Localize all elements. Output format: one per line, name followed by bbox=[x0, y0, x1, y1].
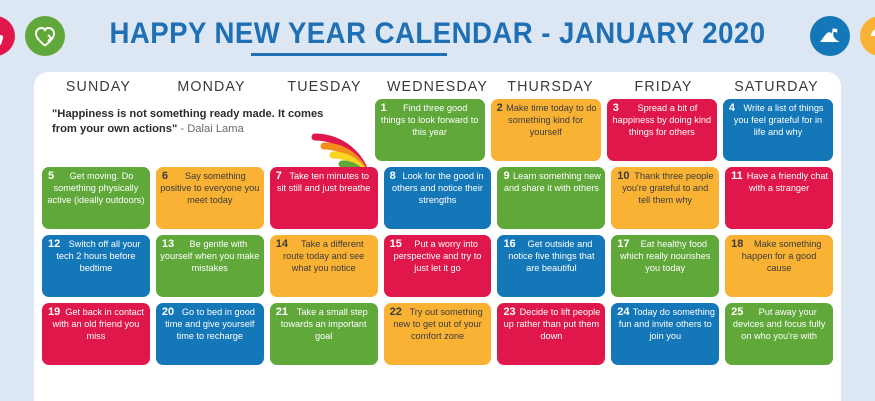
day-cell-11[interactable]: 11 Have a friendly chat with a stranger bbox=[725, 167, 833, 229]
day-cell-5[interactable]: 5 Get moving. Do something physically ac… bbox=[42, 167, 150, 229]
dow-sunday: SUNDAY bbox=[45, 78, 152, 95]
day-number: 23 bbox=[503, 306, 515, 318]
day-cell-16[interactable]: 16 Get outside and notice five things th… bbox=[497, 235, 605, 297]
day-text: Have a friendly chat with a stranger bbox=[729, 170, 829, 194]
day-number: 5 bbox=[48, 170, 54, 182]
calendar-week-3: 12 Switch off all your tech 2 hours befo… bbox=[42, 235, 833, 297]
title-block: HAPPY NEW YEAR CALENDAR - JANUARY 2020 bbox=[81, 17, 794, 56]
day-text: Go to bed in good time and give yourself… bbox=[160, 306, 260, 342]
calendar-card: SUNDAY MONDAY TUESDAY WEDNESDAY THURSDAY… bbox=[34, 72, 841, 401]
day-cell-2[interactable]: 2 Make time today to do something kind f… bbox=[491, 99, 601, 161]
day-text: Get moving. Do something physically acti… bbox=[46, 170, 146, 206]
day-text: Take a small step towards an important g… bbox=[274, 306, 374, 342]
day-cell-24[interactable]: 24 Today do something fun and invite oth… bbox=[611, 303, 719, 365]
day-number: 16 bbox=[503, 238, 515, 250]
day-text: Make time today to do something kind for… bbox=[495, 102, 597, 138]
day-text: Learn something new and share it with ot… bbox=[501, 170, 601, 194]
day-number: 24 bbox=[617, 306, 629, 318]
day-number: 12 bbox=[48, 238, 60, 250]
day-text: Today do something fun and invite others… bbox=[615, 306, 715, 342]
day-number: 22 bbox=[390, 306, 402, 318]
day-number: 21 bbox=[276, 306, 288, 318]
day-number: 2 bbox=[497, 102, 503, 114]
calendar-week-2: 5 Get moving. Do something physically ac… bbox=[42, 167, 833, 229]
day-cell-17[interactable]: 17 Eat healthy food which really nourish… bbox=[611, 235, 719, 297]
day-of-week-header-row: SUNDAY MONDAY TUESDAY WEDNESDAY THURSDAY… bbox=[34, 72, 841, 97]
day-number: 17 bbox=[617, 238, 629, 250]
day-cell-15[interactable]: 15 Put a worry into perspective and try … bbox=[384, 235, 492, 297]
page-title: HAPPY NEW YEAR CALENDAR - JANUARY 2020 bbox=[110, 17, 766, 51]
thumbs-up-icon bbox=[0, 16, 15, 56]
dow-wednesday: WEDNESDAY bbox=[384, 78, 491, 95]
day-text: Get back in contact with an old friend y… bbox=[46, 306, 146, 342]
day-text: Thank three people you're grateful to an… bbox=[615, 170, 715, 206]
page-header: HAPPY NEW YEAR CALENDAR - JANUARY 2020 bbox=[0, 0, 875, 72]
day-number: 11 bbox=[731, 170, 743, 182]
day-text: Put away your devices and focus fully on… bbox=[729, 306, 829, 342]
day-cell-19[interactable]: 19 Get back in contact with an old frien… bbox=[42, 303, 150, 365]
umbrella-icon bbox=[860, 16, 875, 56]
day-number: 10 bbox=[617, 170, 629, 182]
day-number: 6 bbox=[162, 170, 168, 182]
dow-friday: FRIDAY bbox=[610, 78, 717, 95]
calendar-week-4: 19 Get back in contact with an old frien… bbox=[42, 303, 833, 365]
day-number: 4 bbox=[729, 102, 735, 114]
hill-flag-icon bbox=[810, 16, 850, 56]
day-text: Be gentle with yourself when you make mi… bbox=[160, 238, 260, 274]
day-number: 18 bbox=[731, 238, 743, 250]
dow-thursday: THURSDAY bbox=[497, 78, 604, 95]
quote-author: - Dalai Lama bbox=[180, 123, 243, 135]
day-number: 13 bbox=[162, 238, 174, 250]
day-cell-4[interactable]: 4 Write a list of things you feel gratef… bbox=[723, 99, 833, 161]
day-cell-23[interactable]: 23 Decide to lift people up rather than … bbox=[497, 303, 605, 365]
day-number: 3 bbox=[613, 102, 619, 114]
quote-block: "Happiness is not something ready made. … bbox=[42, 99, 369, 161]
day-text: Get outside and notice five things that … bbox=[501, 238, 601, 274]
dow-monday: MONDAY bbox=[158, 78, 265, 95]
day-cell-22[interactable]: 22 Try out something new to get out of y… bbox=[384, 303, 492, 365]
day-cell-1[interactable]: 1 Find three good things to look forward… bbox=[375, 99, 485, 161]
title-underline bbox=[251, 53, 447, 56]
day-number: 1 bbox=[381, 102, 387, 114]
day-number: 8 bbox=[390, 170, 396, 182]
heart-recycle-icon bbox=[25, 16, 65, 56]
day-number: 7 bbox=[276, 170, 282, 182]
day-cell-12[interactable]: 12 Switch off all your tech 2 hours befo… bbox=[42, 235, 150, 297]
calendar-page: HAPPY NEW YEAR CALENDAR - JANUARY 2020 S… bbox=[0, 0, 875, 401]
day-cell-20[interactable]: 20 Go to bed in good time and give yours… bbox=[156, 303, 264, 365]
calendar-week-1: "Happiness is not something ready made. … bbox=[42, 99, 833, 161]
day-text: Try out something new to get out of your… bbox=[388, 306, 488, 342]
day-number: 19 bbox=[48, 306, 60, 318]
dow-saturday: SATURDAY bbox=[723, 78, 830, 95]
day-cell-25[interactable]: 25 Put away your devices and focus fully… bbox=[725, 303, 833, 365]
day-number: 25 bbox=[731, 306, 743, 318]
day-text: Eat healthy food which really nourishes … bbox=[615, 238, 715, 274]
day-number: 9 bbox=[503, 170, 509, 182]
dow-tuesday: TUESDAY bbox=[271, 78, 378, 95]
day-text: Make something happen for a good cause bbox=[729, 238, 829, 274]
day-text: Put a worry into perspective and try to … bbox=[388, 238, 488, 274]
day-text: Decide to lift people up rather than put… bbox=[501, 306, 601, 342]
day-text: Switch off all your tech 2 hours before … bbox=[46, 238, 146, 274]
day-text: Look for the good in others and notice t… bbox=[388, 170, 488, 206]
day-cell-13[interactable]: 13 Be gentle with yourself when you make… bbox=[156, 235, 264, 297]
day-cell-8[interactable]: 8 Look for the good in others and notice… bbox=[384, 167, 492, 229]
day-number: 14 bbox=[276, 238, 288, 250]
day-cell-21[interactable]: 21 Take a small step towards an importan… bbox=[270, 303, 378, 365]
day-cell-10[interactable]: 10 Thank three people you're grateful to… bbox=[611, 167, 719, 229]
day-cell-14[interactable]: 14 Take a different route today and see … bbox=[270, 235, 378, 297]
day-text: Write a list of things you feel grateful… bbox=[727, 102, 829, 138]
day-cell-6[interactable]: 6 Say something positive to everyone you… bbox=[156, 167, 264, 229]
day-cell-7[interactable]: 7 Take ten minutes to sit still and just… bbox=[270, 167, 378, 229]
day-text: Find three good things to look forward t… bbox=[379, 102, 481, 138]
day-text: Take a different route today and see wha… bbox=[274, 238, 374, 274]
day-text: Take ten minutes to sit still and just b… bbox=[274, 170, 374, 194]
day-number: 20 bbox=[162, 306, 174, 318]
day-cell-18[interactable]: 18 Make something happen for a good caus… bbox=[725, 235, 833, 297]
day-text: Spread a bit of happiness by doing kind … bbox=[611, 102, 713, 138]
day-cell-9[interactable]: 9 Learn something new and share it with … bbox=[497, 167, 605, 229]
day-number: 15 bbox=[390, 238, 402, 250]
day-text: Say something positive to everyone you m… bbox=[160, 170, 260, 206]
day-cell-3[interactable]: 3 Spread a bit of happiness by doing kin… bbox=[607, 99, 717, 161]
calendar-grid: "Happiness is not something ready made. … bbox=[34, 97, 841, 365]
